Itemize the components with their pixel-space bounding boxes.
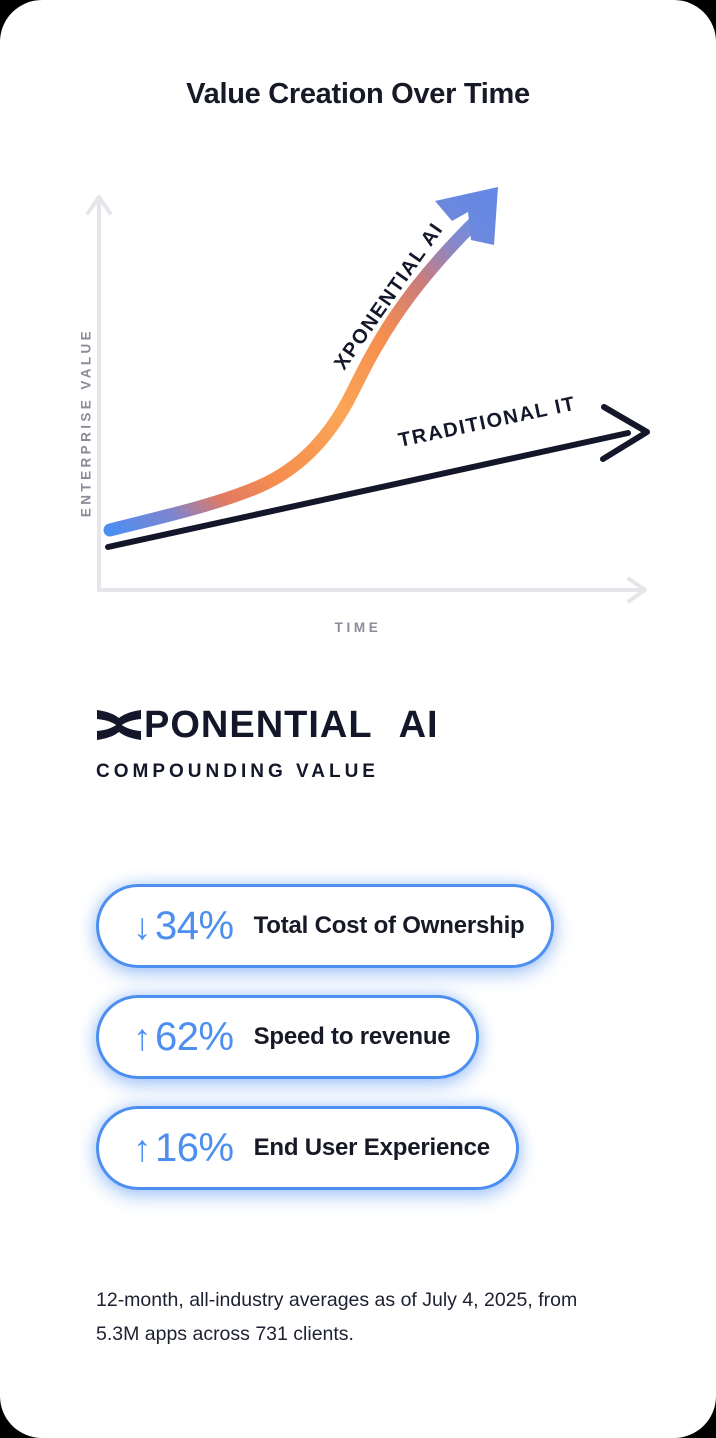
chart-plot-area: XPONENTIAL AI TRADITIONAL IT	[0, 175, 716, 655]
footnote-text: 12-month, all-industry averages as of Ju…	[96, 1283, 596, 1351]
x-axis-label: TIME	[0, 620, 716, 635]
arrow-up-icon: ↑	[133, 1128, 151, 1170]
logo-wordmark: PONENTIAL	[144, 706, 373, 744]
metric-value: 62%	[155, 1015, 234, 1060]
series-label-xponential-ai: XPONENTIAL AI	[330, 219, 448, 374]
metric-label: End User Experience	[254, 1134, 490, 1162]
brand-logo: PONENTIAL AI COMPOUNDING VALUE	[96, 706, 439, 783]
metric-pill-end-user-experience[interactable]: ↑ 16% End User Experience	[96, 1106, 519, 1190]
metric-value-group: ↓ 34%	[133, 904, 234, 949]
metric-label: Total Cost of Ownership	[254, 912, 525, 940]
arrow-down-icon: ↓	[133, 906, 151, 948]
page-title: Value Creation Over Time	[0, 78, 716, 111]
metric-label: Speed to revenue	[254, 1023, 451, 1051]
metric-value: 16%	[155, 1126, 234, 1171]
metric-pill-tco[interactable]: ↓ 34% Total Cost of Ownership	[96, 884, 554, 968]
series-label-traditional-it: TRADITIONAL IT	[396, 393, 578, 452]
metric-pill-speed-to-revenue[interactable]: ↑ 62% Speed to revenue	[96, 995, 479, 1079]
logo-suffix: AI	[399, 706, 439, 744]
arrow-up-icon: ↑	[133, 1017, 151, 1059]
logo-tagline: COMPOUNDING VALUE	[96, 761, 439, 783]
x-mark-icon	[96, 706, 142, 744]
metrics-list: ↓ 34% Total Cost of Ownership ↑ 62% Spee…	[96, 884, 554, 1190]
metric-value-group: ↑ 16%	[133, 1126, 234, 1171]
value-creation-chart: ENTERPRISE VALUE	[0, 175, 716, 655]
metric-value: 34%	[155, 904, 234, 949]
metric-value-group: ↑ 62%	[133, 1015, 234, 1060]
traditional-it-line	[108, 407, 647, 547]
phone-frame: Value Creation Over Time ENTERPRISE VALU…	[0, 0, 716, 1438]
